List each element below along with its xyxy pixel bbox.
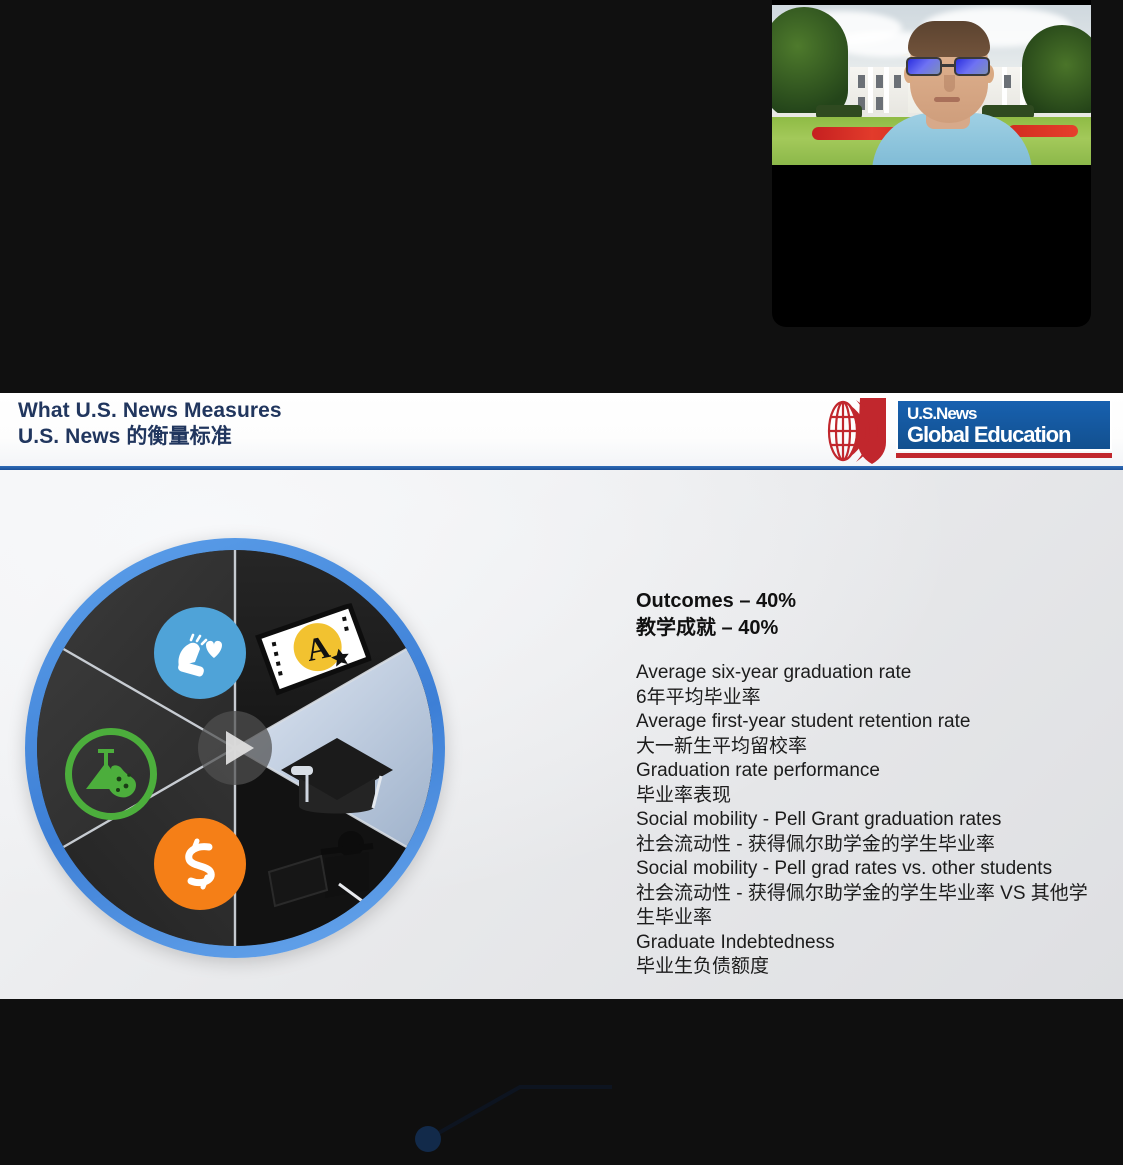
logo-line-1: U.S.News [907, 404, 976, 423]
wheel-disc: A [37, 550, 433, 946]
screen-root: What U.S. News Measures U.S. News 的衡量标准 … [0, 0, 1123, 999]
mouth [934, 97, 960, 102]
callout-text-panel: Outcomes – 40% 教学成就 – 40% Average six-ye… [636, 588, 1096, 980]
metric-line-en: Graduation rate performance [636, 759, 1096, 784]
logo-line-2: Global Education [907, 423, 1070, 447]
participant-video-tile[interactable] [772, 0, 1091, 327]
metric-line-zh: 6年平均毕业率 [636, 686, 1096, 711]
play-button[interactable] [198, 711, 272, 785]
metric-line-en: Average six-year graduation rate [636, 661, 1096, 686]
research-badge[interactable] [65, 728, 157, 820]
us-news-global-education-logo: U.S.News Global Education [824, 394, 1116, 466]
beaker-flask-icon [78, 741, 144, 807]
callout-heading-en: Outcomes – 40% [636, 590, 796, 612]
lens-right [954, 57, 990, 76]
hair [908, 21, 990, 57]
metrics-wheel[interactable]: A [25, 538, 445, 958]
page-title-zh: U.S. News 的衡量标准 [18, 424, 282, 450]
video-conference-area [0, 0, 1123, 393]
participant-figure [880, 13, 1020, 165]
metric-line-zh: 毕业率表现 [636, 784, 1096, 809]
financial-resources-badge[interactable] [154, 818, 246, 910]
column [868, 67, 873, 117]
globe-shield-icon [826, 396, 896, 466]
metric-line-zh: 毕业生负债额度 [636, 955, 1096, 980]
metric-line-zh: 大一新生平均留校率 [636, 735, 1096, 760]
window [858, 75, 865, 88]
glasses-icon [906, 57, 994, 77]
lens-left [906, 57, 942, 76]
glasses-bridge [942, 64, 954, 67]
video-frame [772, 5, 1091, 165]
logo-underline [896, 453, 1112, 458]
nose [944, 75, 955, 92]
metric-line-zh: 社会流动性 - 获得佩尔助学金的学生毕业率 VS 其他学生毕业率 [636, 882, 1096, 931]
metric-line-en: Graduate Indebtedness [636, 931, 1096, 956]
student-desk-icon[interactable] [265, 828, 385, 918]
tree-icon [772, 7, 848, 119]
dollar-sign-icon [171, 835, 229, 893]
page-title-en: What U.S. News Measures [18, 399, 282, 422]
metric-line-en: Average first-year student retention rat… [636, 710, 1096, 735]
faculty-resources-badge[interactable] [154, 607, 246, 699]
callout-heading-zh: 教学成就 – 40% [636, 615, 1096, 642]
play-triangle-icon [226, 731, 254, 765]
page-title: What U.S. News Measures U.S. News 的衡量标准 [18, 398, 282, 450]
metric-line-en: Social mobility - Pell Grant graduation … [636, 808, 1096, 833]
callout-metric-list: Average six-year graduation rate 6年平均毕业率… [636, 661, 1096, 980]
slide-body: A [0, 470, 1123, 999]
callout-connector-line [400, 1065, 630, 1165]
callout-heading: Outcomes – 40% 教学成就 – 40% [636, 588, 1096, 642]
metric-line-zh: 社会流动性 - 获得佩尔助学金的学生毕业率 [636, 833, 1096, 858]
hand-heart-icon [169, 622, 231, 684]
graduation-cap-icon[interactable] [277, 730, 397, 826]
metric-line-en: Social mobility - Pell grad rates vs. ot… [636, 857, 1096, 882]
logo-wordmark-box: U.S.News Global Education [896, 399, 1112, 451]
